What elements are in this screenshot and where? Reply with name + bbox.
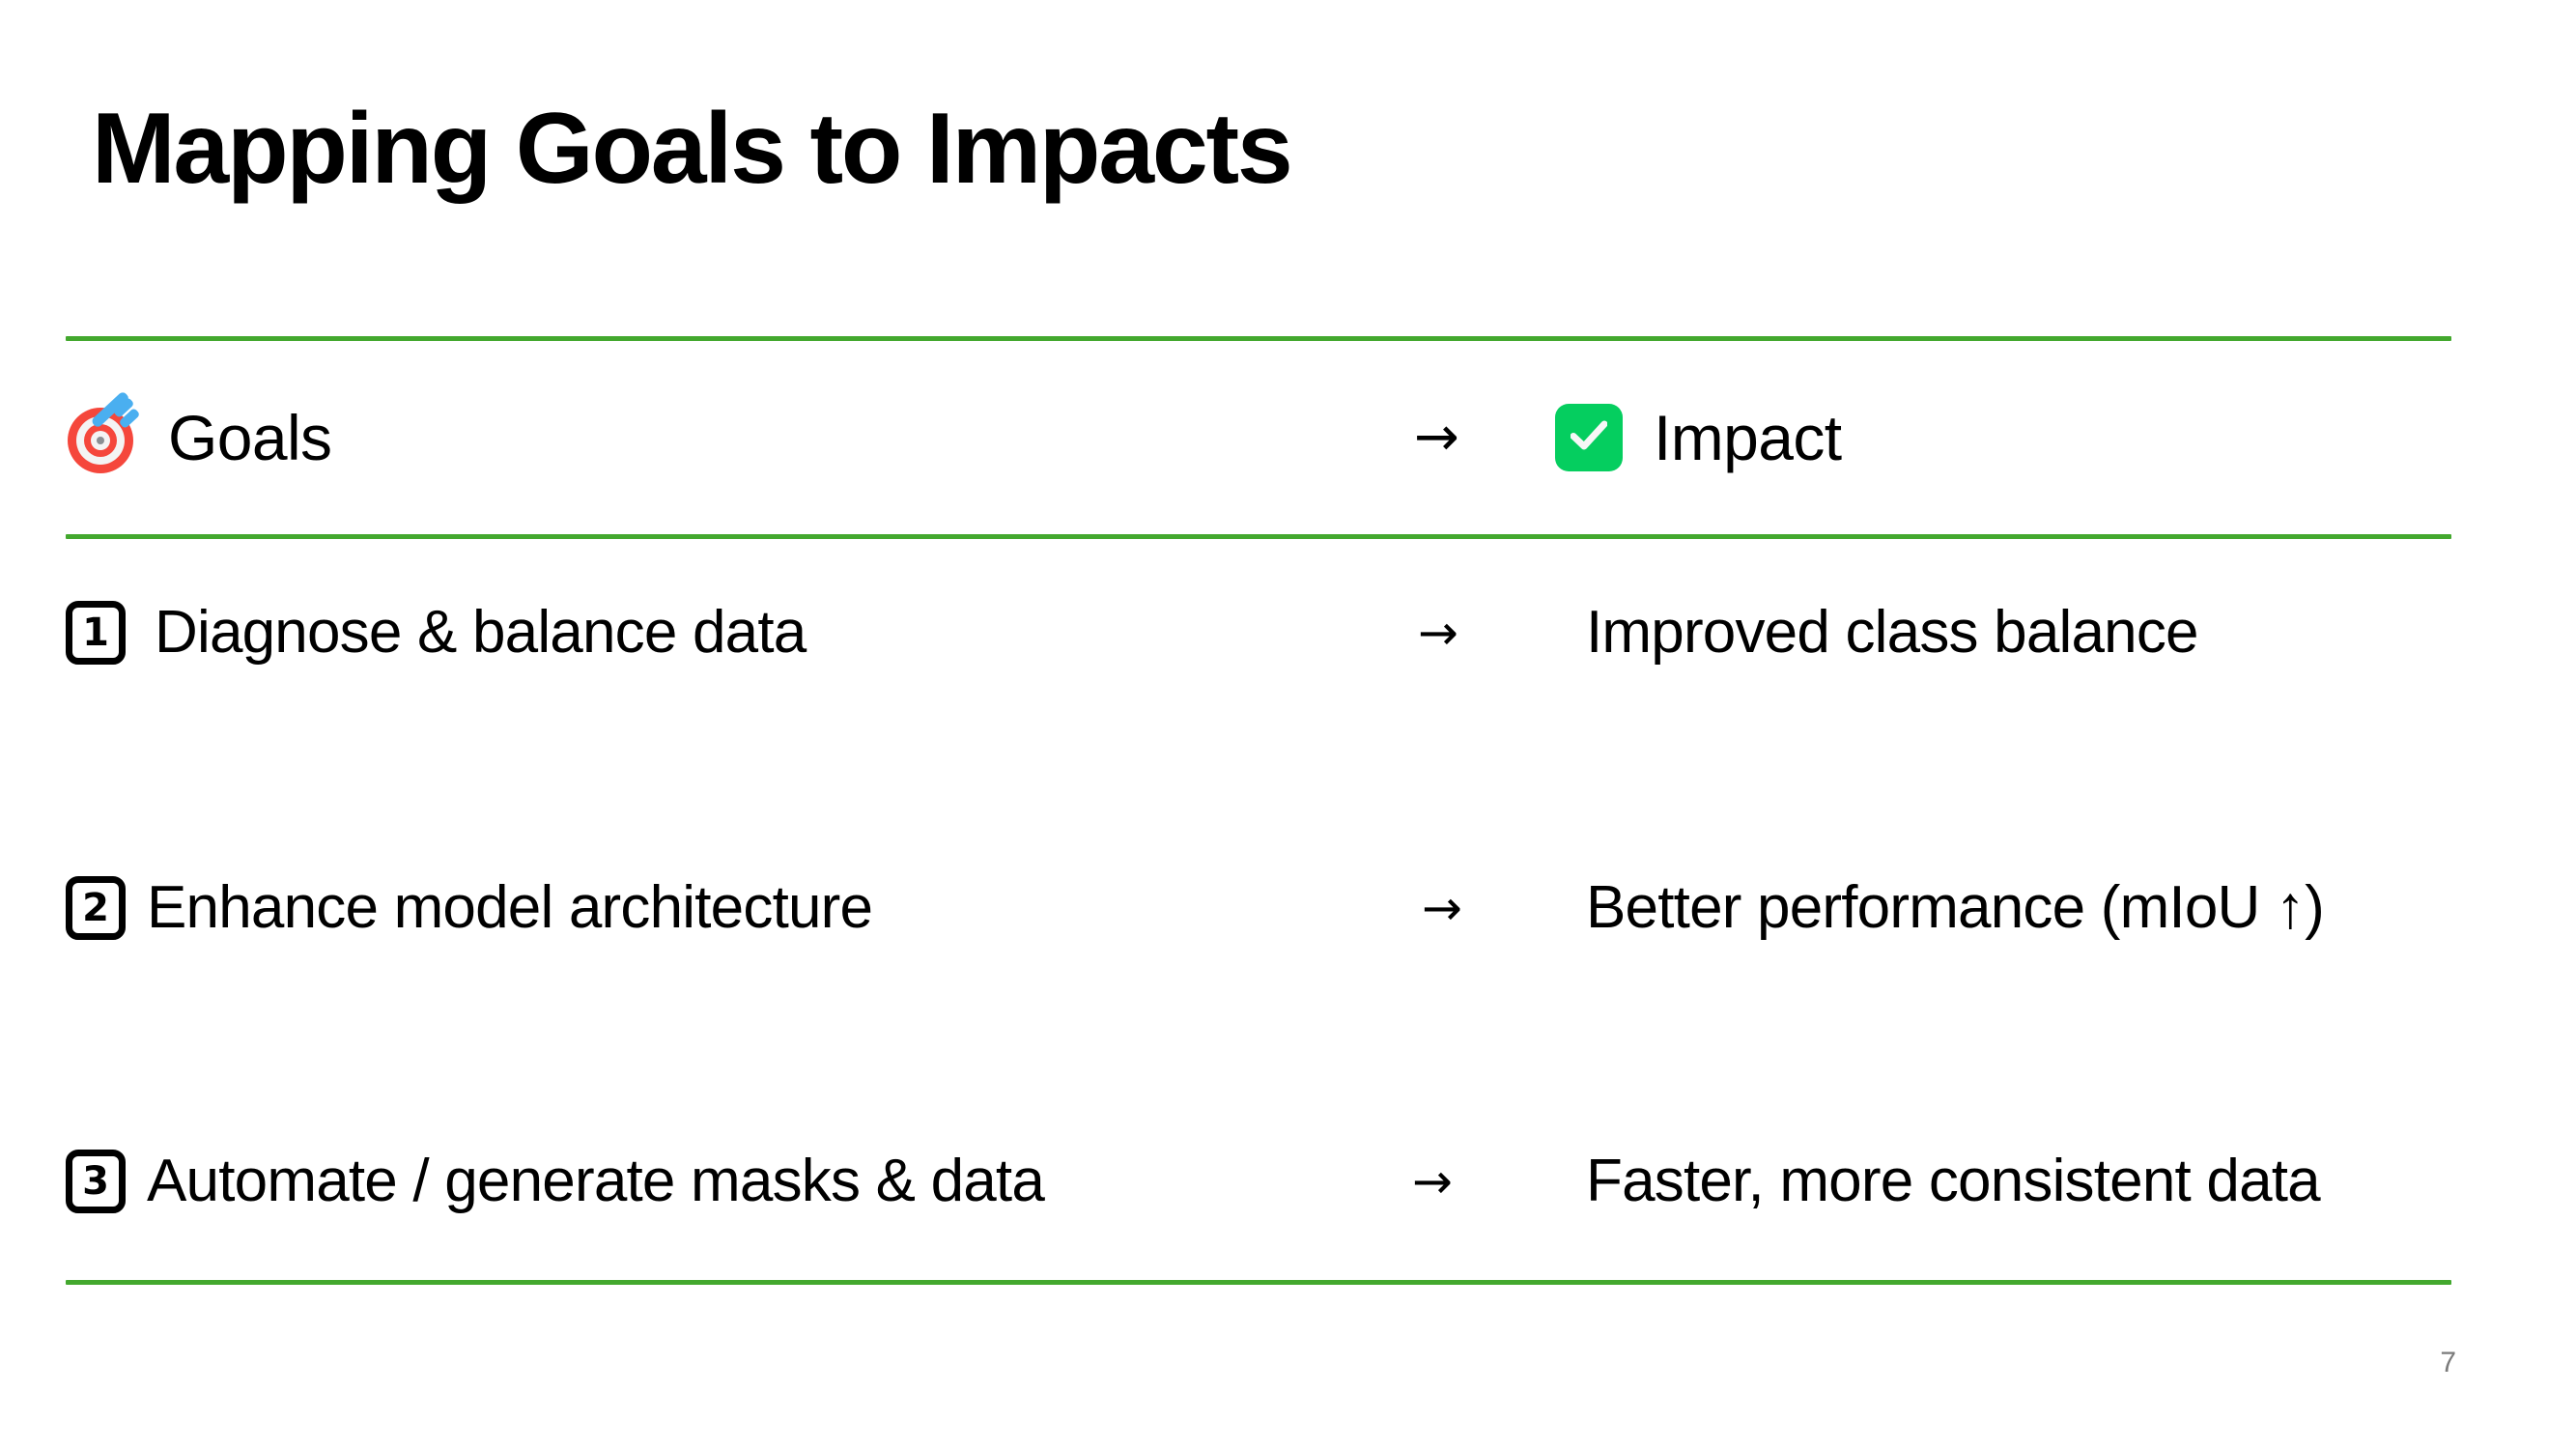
divider-bottom — [66, 1280, 2451, 1285]
goal-label: Diagnose & balance data — [155, 603, 806, 663]
impact-label: Improved class balance — [1586, 603, 2198, 663]
keycap-number-icon: 2 — [66, 876, 126, 940]
impact-cell: Faster, more consistent data — [1555, 1151, 2451, 1211]
divider-header — [66, 534, 2451, 539]
green-check-mark-icon — [1555, 404, 1623, 471]
keycap-number-icon: 1 — [66, 601, 126, 665]
arrow-cell: → — [1408, 884, 1555, 932]
table-header-row: Goals → Impact — [66, 384, 2451, 491]
goal-label: Enhance model architecture — [147, 878, 872, 938]
slide: Mapping Goals to Impacts Goals → — [0, 0, 2576, 1449]
page-title: Mapping Goals to Impacts — [92, 93, 1291, 205]
page-number: 7 — [2440, 1349, 2456, 1378]
header-arrow-cell: → — [1408, 411, 1555, 465]
table-row: 2 Enhance model architecture → Better pe… — [66, 855, 2451, 961]
header-impact-label: Impact — [1654, 406, 1841, 469]
goal-cell: 3 Automate / generate masks & data — [66, 1150, 1408, 1213]
keycap-number-icon: 3 — [66, 1150, 126, 1213]
header-goals-label: Goals — [168, 406, 331, 469]
table-row: 3 Automate / generate masks & data → Fas… — [66, 1128, 2451, 1235]
arrow-right-icon: → — [1422, 884, 1462, 932]
direct-hit-target-icon — [66, 400, 141, 475]
arrow-cell: → — [1408, 609, 1555, 657]
goal-label: Automate / generate masks & data — [147, 1151, 1044, 1211]
impact-label: Faster, more consistent data — [1586, 1151, 2320, 1211]
arrow-right-icon: → — [1412, 1157, 1453, 1206]
impact-label: Better performance (mIoU ↑) — [1586, 878, 2324, 938]
arrow-cell: → — [1408, 1157, 1555, 1206]
goal-cell: 1 Diagnose & balance data — [66, 601, 1408, 665]
header-goals-cell: Goals — [66, 400, 1408, 475]
arrow-right-icon: → — [1414, 411, 1459, 465]
impact-cell: Improved class balance — [1555, 603, 2451, 663]
header-impact-cell: Impact — [1555, 404, 2451, 471]
goal-cell: 2 Enhance model architecture — [66, 876, 1408, 940]
impact-cell: Better performance (mIoU ↑) — [1555, 878, 2451, 938]
divider-top — [66, 336, 2451, 341]
table-row: 1 Diagnose & balance data → Improved cla… — [66, 580, 2451, 686]
arrow-right-icon: → — [1418, 609, 1458, 657]
